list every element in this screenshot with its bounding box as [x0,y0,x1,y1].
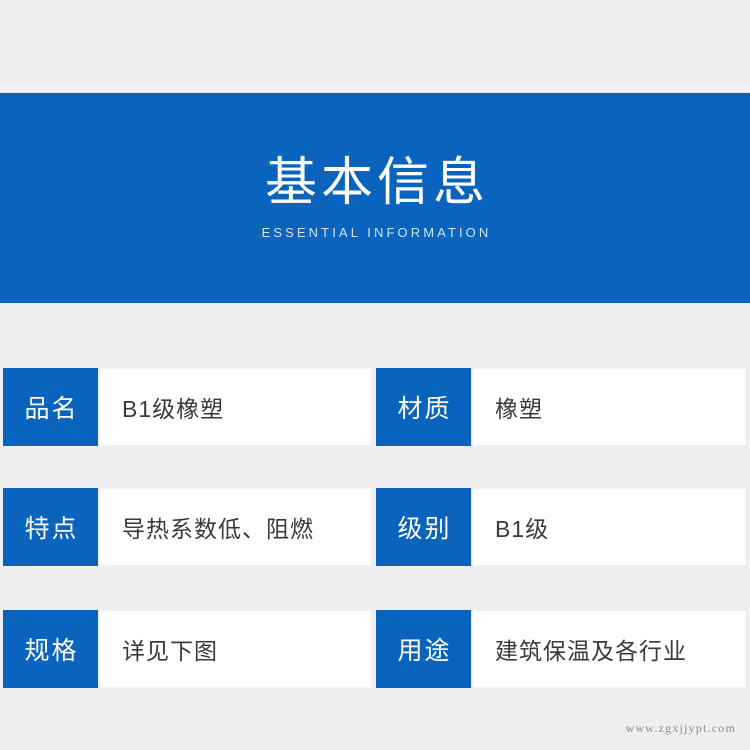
spec-pair-product-name: 品名 B1级橡塑 [3,368,372,446]
spec-pair-specification: 规格 详见下图 [3,610,372,688]
spec-label-material: 材质 [376,368,471,446]
top-spacer [0,0,750,86]
spec-pair-features: 特点 导热系数低、阻燃 [3,488,372,566]
specification-table: 品名 B1级橡塑 材质 橡塑 特点 导热系数低、阻燃 级别 B1级 规格 详见下… [0,303,750,713]
spec-pair-usage: 用途 建筑保温及各行业 [376,610,746,688]
spec-label-product-name: 品名 [3,368,98,446]
spec-value-features: 导热系数低、阻燃 [100,488,372,566]
table-row: 特点 导热系数低、阻燃 级别 B1级 [0,488,750,566]
page-subtitle: ESSENTIAL INFORMATION [259,225,492,240]
spec-pair-grade: 级别 B1级 [376,488,746,566]
spec-value-product-name: B1级橡塑 [100,368,372,446]
spec-value-grade: B1级 [473,488,746,566]
watermark-url: www.zgxjjypt.com [626,721,736,736]
spec-label-features: 特点 [3,488,98,566]
spec-value-material: 橡塑 [473,368,746,446]
spec-label-grade: 级别 [376,488,471,566]
spec-label-specification: 规格 [3,610,98,688]
spec-pair-material: 材质 橡塑 [376,368,746,446]
spec-label-usage: 用途 [376,610,471,688]
spec-value-specification: 详见下图 [100,610,372,688]
top-divider [0,86,750,93]
table-row: 规格 详见下图 用途 建筑保温及各行业 [0,610,750,688]
page-title: 基本信息 [261,156,489,211]
spec-value-usage: 建筑保温及各行业 [473,610,746,688]
header-banner: 基本信息 ESSENTIAL INFORMATION [0,93,750,303]
table-row: 品名 B1级橡塑 材质 橡塑 [0,368,750,446]
